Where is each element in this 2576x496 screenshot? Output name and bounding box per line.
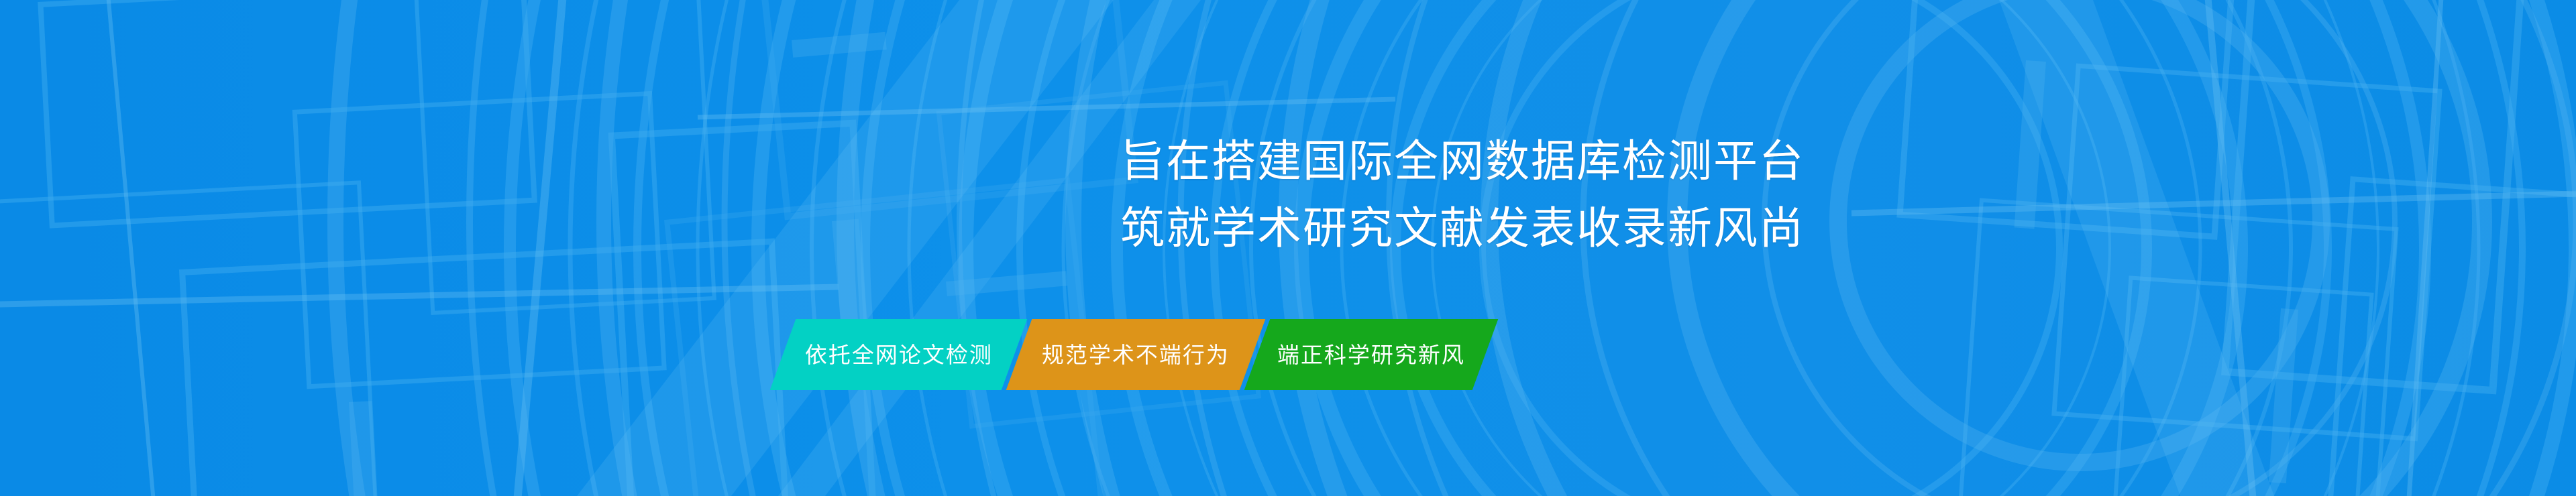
feature-tag-1[interactable]: 依托全网论文检测 (770, 319, 1028, 390)
feature-tag-2[interactable]: 规范学术不端行为 (1006, 319, 1266, 390)
feature-tag-1-label: 依托全网论文检测 (805, 344, 993, 366)
feature-tag-strip: 依托全网论文检测 规范学术不端行为 端正科学研究新风 (783, 319, 1485, 390)
feature-tag-3-label: 端正科学研究新风 (1277, 344, 1465, 366)
feature-tag-3[interactable]: 端正科学研究新风 (1244, 319, 1499, 390)
background-pattern-art (0, 0, 2576, 496)
promo-banner: 旨在搭建国际全网数据库检测平台 筑就学术研究文献发表收录新风尚 依托全网论文检测… (0, 0, 2576, 496)
feature-tag-2-label: 规范学术不端行为 (1042, 344, 1230, 366)
